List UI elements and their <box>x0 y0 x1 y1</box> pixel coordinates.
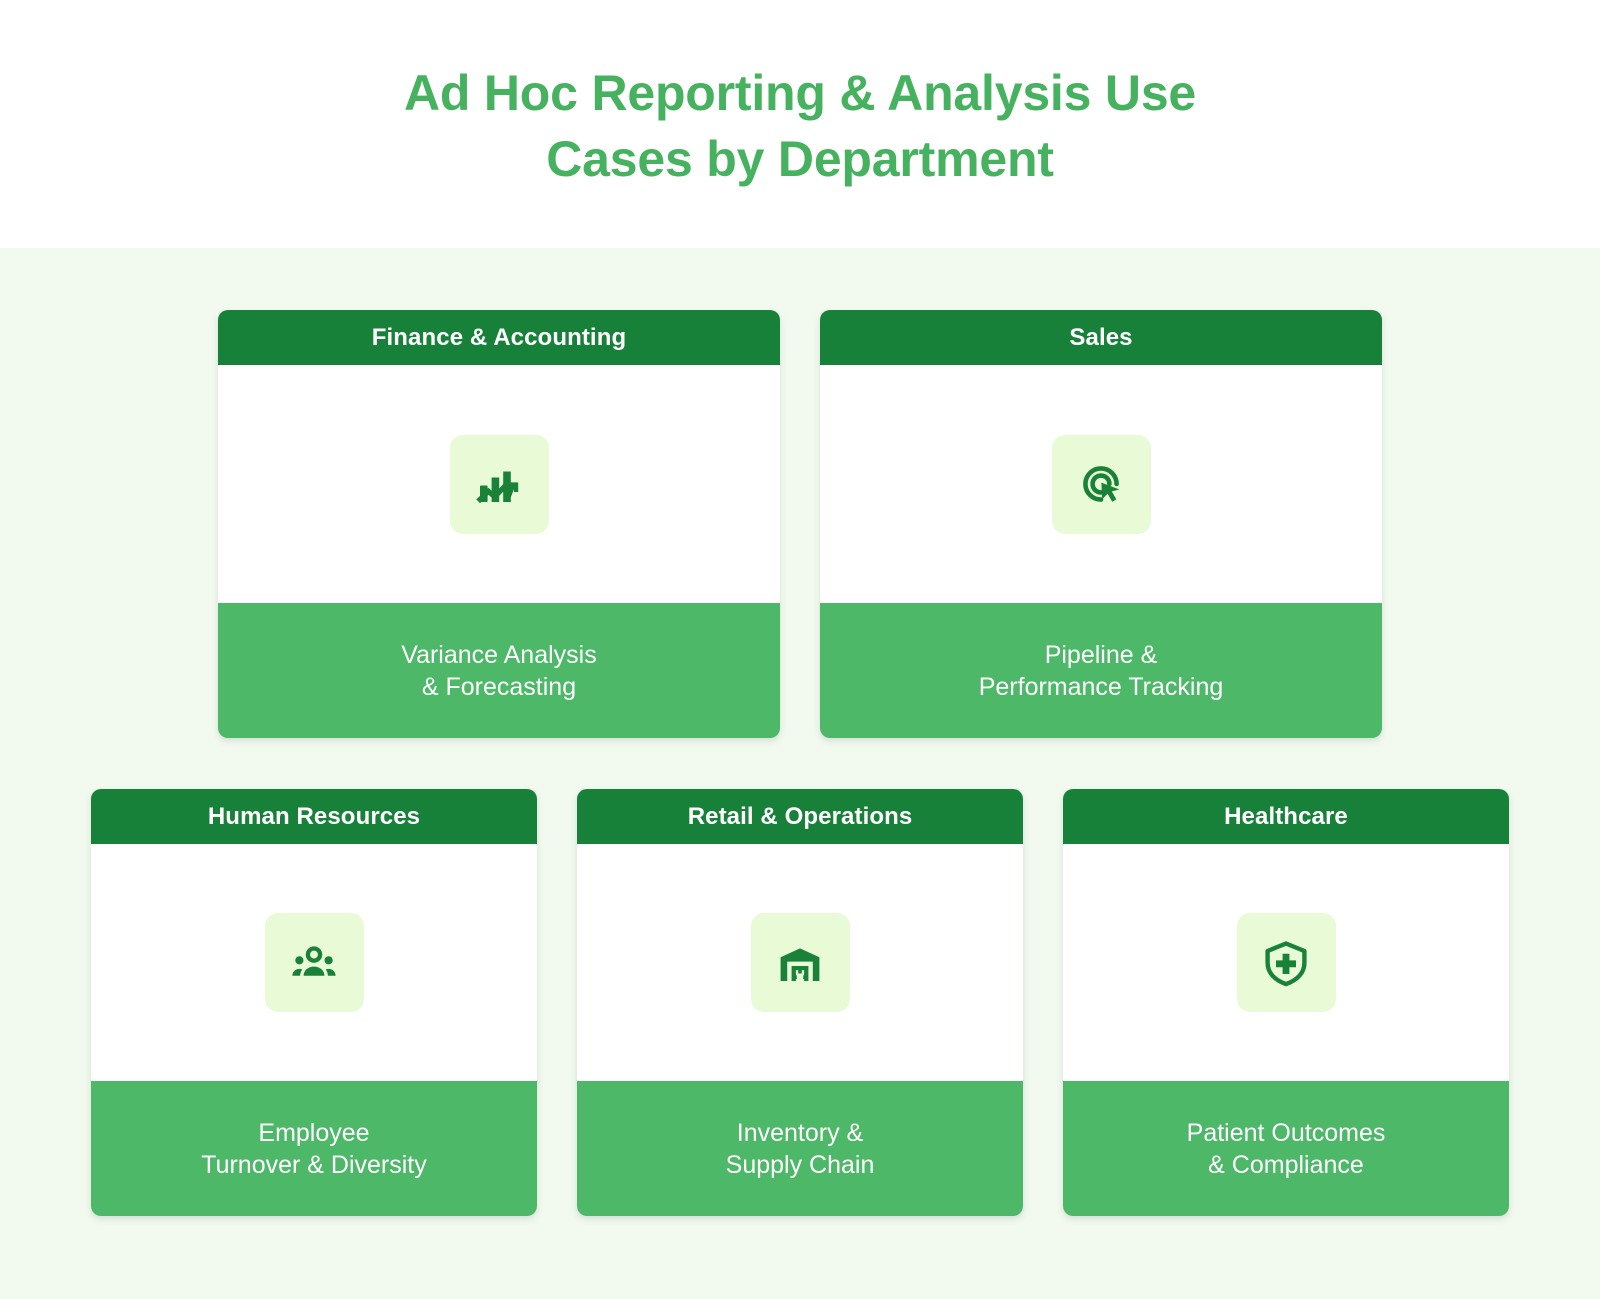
target-click-cursor-icon <box>1075 458 1127 510</box>
bar-chart-trend-icon <box>473 458 525 510</box>
card-body-sales <box>820 365 1382 603</box>
title-band: Ad Hoc Reporting & Analysis Use Cases by… <box>0 0 1600 248</box>
card-human-resources[interactable]: Human Resources <box>91 789 537 1216</box>
shield-medical-cross-icon <box>1260 937 1312 989</box>
card-footer-human-resources: Employee Turnover & Diversity <box>91 1081 537 1216</box>
card-header-human-resources: Human Resources <box>91 789 537 844</box>
card-header-finance-accounting: Finance & Accounting <box>218 310 780 365</box>
page-title: Ad Hoc Reporting & Analysis Use Cases by… <box>350 60 1250 192</box>
card-footer-text-sales: Pipeline & Performance Tracking <box>979 639 1224 703</box>
card-body-retail-operations <box>577 844 1023 1081</box>
card-sales[interactable]: Sales Pipeline & Performance Track <box>820 310 1382 738</box>
icon-tile-human-resources <box>265 913 364 1012</box>
card-header-sales: Sales <box>820 310 1382 365</box>
card-row-bottom: Human Resources <box>0 738 1600 1216</box>
card-footer-text-finance-accounting: Variance Analysis & Forecasting <box>401 639 596 703</box>
card-healthcare[interactable]: Healthcare Patient Outcomes & Compliance <box>1063 789 1509 1216</box>
people-group-icon <box>288 937 340 989</box>
card-body-human-resources <box>91 844 537 1081</box>
card-footer-finance-accounting: Variance Analysis & Forecasting <box>218 603 780 738</box>
card-footer-retail-operations: Inventory & Supply Chain <box>577 1081 1023 1216</box>
card-body-healthcare <box>1063 844 1509 1081</box>
card-grid: Finance & Accounting <box>0 248 1600 1299</box>
card-footer-text-healthcare: Patient Outcomes & Compliance <box>1187 1117 1386 1181</box>
warehouse-icon <box>774 937 826 989</box>
card-finance-accounting[interactable]: Finance & Accounting <box>218 310 780 738</box>
infographic-page: Ad Hoc Reporting & Analysis Use Cases by… <box>0 0 1600 1299</box>
card-retail-operations[interactable]: Retail & Operations <box>577 789 1023 1216</box>
card-header-retail-operations: Retail & Operations <box>577 789 1023 844</box>
icon-tile-finance-accounting <box>450 435 549 534</box>
card-footer-healthcare: Patient Outcomes & Compliance <box>1063 1081 1509 1216</box>
card-footer-text-human-resources: Employee Turnover & Diversity <box>201 1117 427 1181</box>
card-body-finance-accounting <box>218 365 780 603</box>
card-footer-text-retail-operations: Inventory & Supply Chain <box>726 1117 875 1181</box>
card-footer-sales: Pipeline & Performance Tracking <box>820 603 1382 738</box>
icon-tile-healthcare <box>1237 913 1336 1012</box>
card-header-healthcare: Healthcare <box>1063 789 1509 844</box>
icon-tile-sales <box>1052 435 1151 534</box>
card-row-top: Finance & Accounting <box>0 248 1600 738</box>
icon-tile-retail-operations <box>751 913 850 1012</box>
